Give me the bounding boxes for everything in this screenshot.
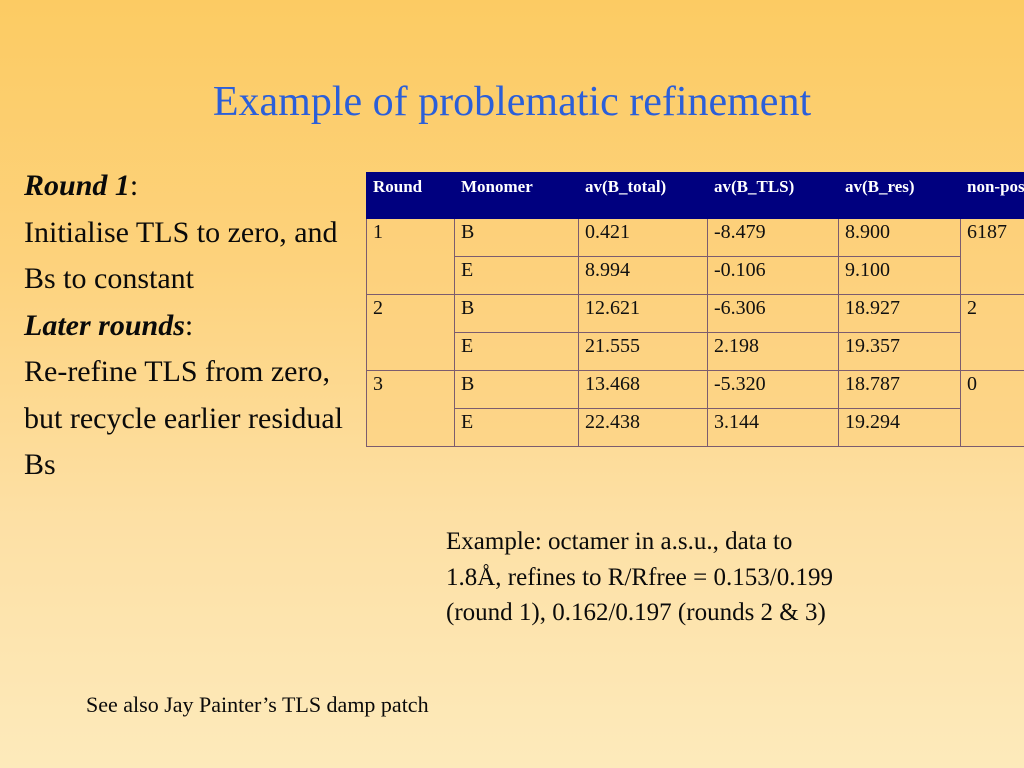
- caption-line-3: (round 1), 0.162/0.197 (rounds 2 & 3): [446, 595, 998, 631]
- cell-monomer: B: [455, 371, 579, 409]
- cell-av-b-total: 21.555: [579, 333, 708, 371]
- cell-non-pos: 0: [961, 371, 1024, 447]
- cell-monomer: B: [455, 295, 579, 333]
- example-caption: Example: octamer in a.s.u., data to 1.8Å…: [446, 524, 998, 631]
- later-rounds-colon: :: [185, 309, 193, 342]
- cell-non-pos: 2: [961, 295, 1024, 371]
- round1-lead-label: Round 1: [24, 169, 130, 202]
- table-row: E 8.994 -0.106 9.100: [367, 257, 1024, 295]
- cell-monomer: E: [455, 333, 579, 371]
- table-row: E 22.438 3.144 19.294: [367, 409, 1024, 447]
- footnote-text: See also Jay Painter’s TLS damp patch: [86, 692, 429, 718]
- cell-round: 2: [367, 295, 455, 371]
- cell-non-pos: 6187: [961, 219, 1024, 295]
- column-header-av-b-total: av(B_total): [579, 173, 708, 219]
- cell-monomer: E: [455, 409, 579, 447]
- caption-line-2: 1.8Å, refines to R/Rfree = 0.153/0.199: [446, 560, 998, 596]
- table-header: Round Monomer av(B_total) av(B_TLS) av(B…: [367, 173, 1024, 219]
- round1-colon: :: [130, 169, 138, 202]
- cell-round: 3: [367, 371, 455, 447]
- column-header-av-b-tls: av(B_TLS): [708, 173, 839, 219]
- later-rounds-body-text: Re-refine TLS from zero, but recycle ear…: [24, 349, 360, 489]
- cell-av-b-total: 22.438: [579, 409, 708, 447]
- round1-paragraph: Round 1:: [24, 163, 360, 210]
- cell-av-b-res: 19.357: [839, 333, 961, 371]
- refinement-results-table: Round Monomer av(B_total) av(B_TLS) av(B…: [366, 172, 1024, 447]
- left-text-block: Round 1: Initialise TLS to zero, and Bs …: [24, 163, 360, 489]
- table-body: 1 B 0.421 -8.479 8.900 6187 E 8.994 -0.1…: [367, 219, 1024, 447]
- column-header-non-pos: non-pos: [961, 173, 1024, 219]
- cell-monomer: B: [455, 219, 579, 257]
- column-header-round: Round: [367, 173, 455, 219]
- cell-av-b-res: 8.900: [839, 219, 961, 257]
- later-rounds-lead-label: Later rounds: [24, 309, 185, 342]
- table-row: 1 B 0.421 -8.479 8.900 6187: [367, 219, 1024, 257]
- round1-body-text: Initialise TLS to zero, and Bs to consta…: [24, 210, 360, 303]
- cell-av-b-tls: 3.144: [708, 409, 839, 447]
- cell-round: 1: [367, 219, 455, 295]
- table-row: 2 B 12.621 -6.306 18.927 2: [367, 295, 1024, 333]
- table-row: 3 B 13.468 -5.320 18.787 0: [367, 371, 1024, 409]
- cell-av-b-total: 12.621: [579, 295, 708, 333]
- later-rounds-paragraph: Later rounds:: [24, 303, 360, 350]
- cell-av-b-tls: -8.479: [708, 219, 839, 257]
- cell-av-b-res: 18.787: [839, 371, 961, 409]
- cell-av-b-res: 18.927: [839, 295, 961, 333]
- table-header-row: Round Monomer av(B_total) av(B_TLS) av(B…: [367, 173, 1024, 219]
- cell-av-b-tls: -5.320: [708, 371, 839, 409]
- cell-av-b-total: 8.994: [579, 257, 708, 295]
- cell-av-b-total: 13.468: [579, 371, 708, 409]
- caption-line-1: Example: octamer in a.s.u., data to: [446, 524, 998, 560]
- page-title: Example of problematic refinement: [0, 80, 1024, 124]
- cell-av-b-res: 19.294: [839, 409, 961, 447]
- cell-av-b-tls: -0.106: [708, 257, 839, 295]
- cell-av-b-res: 9.100: [839, 257, 961, 295]
- table-row: E 21.555 2.198 19.357: [367, 333, 1024, 371]
- column-header-monomer: Monomer: [455, 173, 579, 219]
- cell-av-b-total: 0.421: [579, 219, 708, 257]
- cell-av-b-tls: -6.306: [708, 295, 839, 333]
- column-header-av-b-res: av(B_res): [839, 173, 961, 219]
- cell-av-b-tls: 2.198: [708, 333, 839, 371]
- cell-monomer: E: [455, 257, 579, 295]
